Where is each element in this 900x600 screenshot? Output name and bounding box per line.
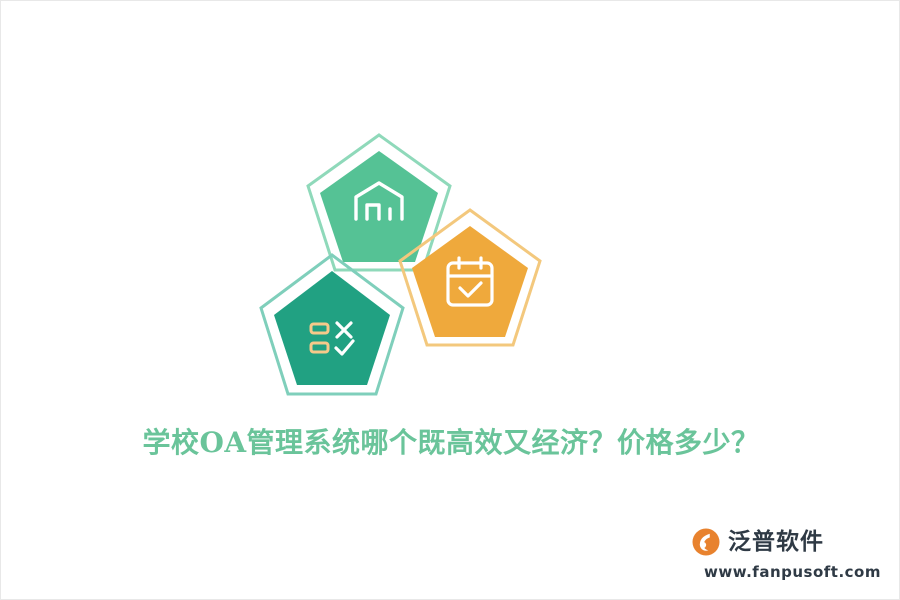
fanpu-logo-icon (691, 527, 721, 557)
pentagon-calendar (396, 206, 544, 351)
pentagon-tasks (256, 251, 408, 401)
image-canvas: 学校OA管理系统哪个既高效又经济？价格多少？ 泛普软件 www.fanpusof… (0, 0, 900, 600)
watermark-logo: 泛普软件 www.fanpusoft.com (691, 525, 881, 583)
watermark-url: www.fanpusoft.com (691, 563, 881, 581)
pentagon-tasks-fill (274, 271, 390, 385)
page-title: 学校OA管理系统哪个既高效又经济？价格多少？ (1, 421, 900, 461)
watermark-brand: 泛普软件 (728, 531, 824, 554)
pentagon-calendar-fill (412, 226, 528, 337)
three-pentagon-cluster (256, 131, 546, 406)
